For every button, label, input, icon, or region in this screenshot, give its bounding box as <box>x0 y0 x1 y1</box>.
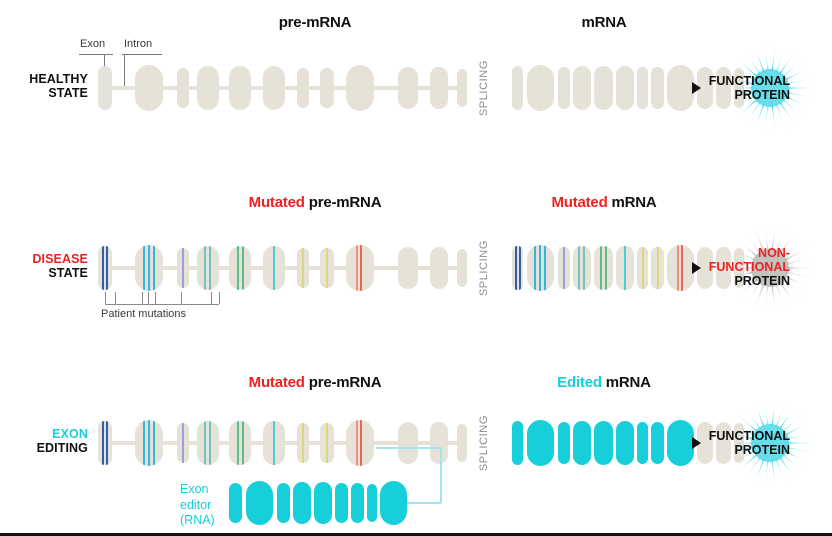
row-label-line1: EXON <box>0 427 88 441</box>
mrna-segment <box>637 422 648 464</box>
mutation-stripe <box>360 420 362 466</box>
exon-editor-segment <box>380 481 407 525</box>
intron-callout-leader <box>124 54 125 88</box>
premrna-exon <box>457 424 467 462</box>
mutation-stripe <box>209 421 211 465</box>
patient-mutation-baseline <box>105 304 219 305</box>
mutation-stripe <box>102 421 104 465</box>
exon-editor-segment <box>335 483 348 523</box>
mrna-segment <box>616 246 634 290</box>
premrna-exon <box>430 67 448 109</box>
mutation-stripe <box>519 246 521 290</box>
premrna-exon <box>430 247 448 289</box>
mutation-stripe <box>302 248 304 288</box>
exon-editor-connector-horizontal-top <box>376 447 441 449</box>
protein-label-line: NON- <box>680 246 790 260</box>
row-label-line1: DISEASE <box>0 252 88 266</box>
exon-editor-connector-horizontal-bottom <box>407 502 441 504</box>
column-title-premrna-disease: Mutated pre-mRNA <box>249 194 382 211</box>
mutation-stripe <box>273 246 275 290</box>
mutation-stripe <box>677 245 679 291</box>
column-title-mrna-editing: Edited mRNA <box>557 374 651 391</box>
premrna-exon <box>320 248 334 288</box>
column-title-text: pre-mRNA <box>309 194 382 211</box>
column-title-text: pre-mRNA <box>279 14 352 31</box>
premrna-exon <box>98 421 112 465</box>
exon-editor-segment <box>351 483 364 523</box>
mutation-stripe <box>204 421 206 465</box>
mutation-stripe <box>102 246 104 290</box>
mutation-stripe <box>242 246 244 290</box>
column-title-prefix: Mutated <box>551 194 611 211</box>
mutation-stripe <box>302 423 304 463</box>
mutation-stripe <box>182 423 184 463</box>
mutation-stripe <box>237 421 239 465</box>
premrna-exon <box>297 423 309 463</box>
patient-mutation-tick <box>148 292 149 304</box>
premrna-exon <box>229 421 251 465</box>
mutation-stripe <box>182 248 184 288</box>
row-label-exon-editing: EXONEDITING <box>0 427 88 455</box>
column-title-mrna-healthy: mRNA <box>581 14 626 31</box>
exon-editor-segment <box>246 481 273 525</box>
protein-label-line: FUNCTIONAL <box>680 74 790 88</box>
premrna-exon <box>135 245 163 291</box>
column-title-text: pre-mRNA <box>309 374 382 391</box>
row-label-healthy-state: HEALTHYSTATE <box>0 72 88 100</box>
premrna-exon <box>457 249 467 287</box>
mutation-stripe <box>642 247 644 289</box>
row-label-line2: STATE <box>0 86 88 100</box>
premrna-exon <box>320 423 334 463</box>
mrna-segment <box>594 421 613 465</box>
mrna-segment <box>594 66 613 110</box>
mutation-stripe <box>106 246 108 290</box>
mutation-stripe <box>326 248 328 288</box>
exon-editor-segment <box>367 484 377 522</box>
row-label-line1: HEALTHY <box>0 72 88 86</box>
exon-editor-label-line: (RNA) <box>180 513 215 529</box>
patient-mutation-tick <box>211 292 212 304</box>
mutation-stripe <box>534 245 536 291</box>
column-title-text: mRNA <box>612 194 657 211</box>
premrna-exon <box>297 68 309 108</box>
exon-editor-segment <box>293 482 311 524</box>
column-title-premrna-editing: Mutated pre-mRNA <box>249 374 382 391</box>
mutation-stripe <box>544 245 546 291</box>
mutation-stripe <box>148 245 150 291</box>
mrna-segment <box>558 247 570 289</box>
mrna-segment <box>651 422 664 464</box>
column-title-prefix: Edited <box>557 374 606 391</box>
splicing-label: SPLICING <box>478 240 490 296</box>
premrna-exon <box>177 248 189 288</box>
mutation-stripe <box>360 245 362 291</box>
splicing-label: SPLICING <box>478 60 490 116</box>
column-title-mrna-disease: Mutated mRNA <box>551 194 656 211</box>
mrna-segment <box>512 421 523 465</box>
premrna-exon <box>197 246 219 290</box>
column-title-text: mRNA <box>581 14 626 31</box>
patient-mutation-tick <box>142 292 143 304</box>
premrna-exon <box>263 421 285 465</box>
premrna-exon <box>457 69 467 107</box>
premrna-exon <box>177 423 189 463</box>
mutation-stripe <box>237 246 239 290</box>
mutation-stripe <box>143 245 145 291</box>
exon-editor-segment <box>229 483 242 523</box>
mutation-stripe <box>578 246 580 290</box>
protein-label-nonfunctional-protein: NON-FUNCTIONALPROTEIN <box>680 246 790 288</box>
premrna-exon <box>98 246 112 290</box>
mutation-stripe <box>657 247 659 289</box>
mutation-stripe <box>356 420 358 466</box>
mutation-stripe <box>356 245 358 291</box>
mrna-segment <box>616 66 634 110</box>
mrna-segment <box>512 246 523 290</box>
protein-label-functional-protein-edited: FUNCTIONALPROTEIN <box>680 429 790 457</box>
mutation-stripe <box>204 246 206 290</box>
mrna-segment <box>637 67 648 109</box>
column-title-prefix: Mutated <box>249 194 309 211</box>
protein-label-functional-protein-healthy: FUNCTIONALPROTEIN <box>680 74 790 102</box>
premrna-exon <box>320 68 334 108</box>
premrna-exon <box>430 422 448 464</box>
premrna-exon <box>263 246 285 290</box>
premrna-exon <box>297 248 309 288</box>
mutation-stripe <box>153 420 155 466</box>
intron-callout-underline <box>122 54 162 55</box>
exon-callout-underline <box>79 54 113 55</box>
mrna-segment <box>651 247 664 289</box>
mutation-stripe <box>539 245 541 291</box>
mutation-stripe <box>515 246 517 290</box>
mutation-stripe <box>209 246 211 290</box>
mutation-stripe <box>106 421 108 465</box>
premrna-exon <box>197 421 219 465</box>
exon-editor-label: Exoneditor(RNA) <box>180 482 215 529</box>
exon-callout-label: Exon <box>80 38 105 50</box>
premrna-exon <box>346 420 374 466</box>
mrna-segment <box>558 67 570 109</box>
premrna-exon <box>98 66 112 110</box>
premrna-exon <box>197 66 219 110</box>
exon-editor-label-line: Exon <box>180 482 215 498</box>
premrna-exon <box>177 68 189 108</box>
premrna-exon <box>346 245 374 291</box>
premrna-exon <box>398 247 418 289</box>
mutation-stripe <box>624 246 626 290</box>
splicing-label: SPLICING <box>478 415 490 471</box>
premrna-exon <box>135 65 163 111</box>
mrna-segment <box>527 245 554 291</box>
intron-callout-label: Intron <box>124 38 152 50</box>
patient-mutation-tick <box>105 292 106 304</box>
patient-mutations-label: Patient mutations <box>101 308 186 320</box>
mrna-segment <box>573 421 591 465</box>
exon-editor-label-line: editor <box>180 498 215 514</box>
mutation-stripe <box>563 247 565 289</box>
premrna-exon <box>398 422 418 464</box>
mutation-stripe <box>242 421 244 465</box>
mrna-segment <box>512 66 523 110</box>
row-label-line2: EDITING <box>0 441 88 455</box>
patient-mutation-tick <box>155 292 156 304</box>
premrna-exon <box>398 67 418 109</box>
column-title-prefix: Mutated <box>249 374 309 391</box>
mutation-stripe <box>273 421 275 465</box>
mrna-segment <box>637 247 648 289</box>
exon-editor-segment <box>277 483 290 523</box>
column-title-text: mRNA <box>606 374 651 391</box>
row-label-line2: STATE <box>0 266 88 280</box>
mrna-segment <box>573 246 591 290</box>
mrna-segment <box>616 421 634 465</box>
protein-label-line: PROTEIN <box>680 88 790 102</box>
mrna-segment <box>594 246 613 290</box>
patient-mutation-tick <box>219 292 220 304</box>
mrna-segment <box>527 65 554 111</box>
mutation-stripe <box>326 423 328 463</box>
mutation-stripe <box>148 420 150 466</box>
premrna-exon <box>346 65 374 111</box>
row-label-disease-state: DISEASESTATE <box>0 252 88 280</box>
premrna-exon <box>263 66 285 110</box>
diagram-canvas: pre-mRNAmRNAMutated pre-mRNAMutated mRNA… <box>0 0 832 533</box>
premrna-exon <box>229 246 251 290</box>
exon-editor-connector-vertical <box>440 447 442 503</box>
mutation-stripe <box>605 246 607 290</box>
mutation-stripe <box>600 246 602 290</box>
patient-mutation-tick <box>115 292 116 304</box>
mrna-segment <box>527 420 554 466</box>
protein-label-line: PROTEIN <box>680 274 790 288</box>
patient-mutation-tick <box>181 292 182 304</box>
protein-label-line: FUNCTIONAL <box>680 429 790 443</box>
mutation-stripe <box>153 245 155 291</box>
mrna-segment <box>558 422 570 464</box>
premrna-exon <box>229 66 251 110</box>
mutation-stripe <box>583 246 585 290</box>
premrna-exon <box>135 420 163 466</box>
protein-label-line: PROTEIN <box>680 443 790 457</box>
mrna-segment <box>573 66 591 110</box>
protein-label-line: FUNCTIONAL <box>680 260 790 274</box>
column-title-premrna-healthy: pre-mRNA <box>279 14 352 31</box>
exon-editor-segment <box>314 482 332 524</box>
mutation-stripe <box>143 420 145 466</box>
mrna-segment <box>651 67 664 109</box>
